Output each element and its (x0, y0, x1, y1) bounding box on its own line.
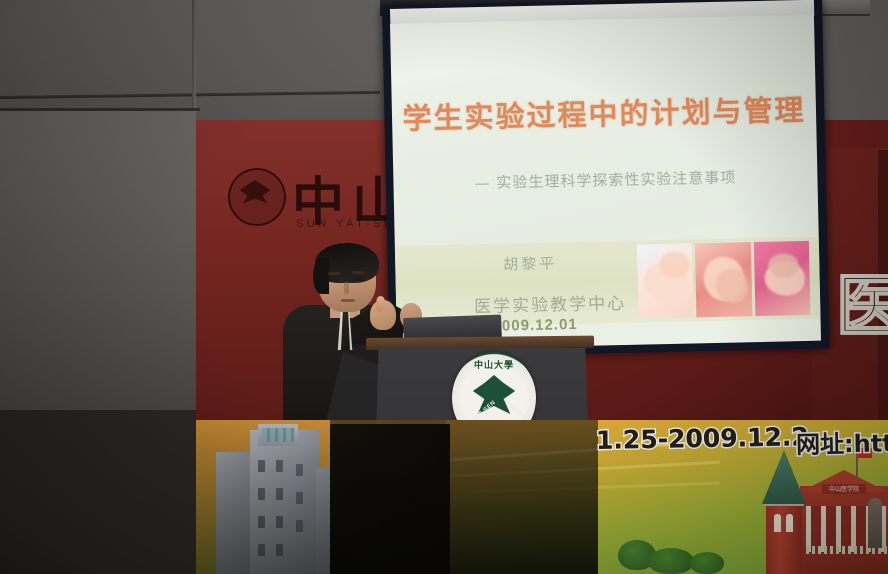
slide-subtitle: — 实验生理科学探索性实验注意事项 (393, 165, 817, 195)
speaker-eye-right (353, 277, 363, 281)
speaker-eyebrow-right (352, 271, 364, 275)
banner-building-plaque-text: 中山医学院 (823, 484, 865, 493)
banner-tree-3 (690, 552, 724, 574)
lecture-hall-photo: 中山大 SUN YAT-SEN UNIV 医 学生实验过程中的计划与管理 — 实… (0, 0, 888, 574)
banner-date-range: 1.25-2009.12.2 (596, 422, 809, 455)
speaker-nose (344, 282, 349, 294)
banner-url-label: 网址:http (796, 423, 888, 460)
slide-title: 学生实验过程中的计划与管理 (392, 87, 817, 138)
left-wall-panel (0, 110, 196, 410)
podium-top-edge (366, 336, 594, 350)
banner-tree-2 (648, 548, 694, 574)
banner-tower-window-2 (786, 514, 793, 532)
hands-photo-3 (754, 241, 811, 316)
slide-presenter-name: 胡黎平 (503, 252, 557, 274)
speaker-mouth (341, 299, 355, 302)
banner-statue (868, 498, 882, 548)
banner-tower-body (766, 500, 802, 574)
left-wall-seam (0, 108, 200, 111)
hands-photo-2 (695, 242, 752, 317)
speaker-eye-left (329, 278, 339, 282)
slide-organization: 医学实验教学中心 (474, 289, 627, 317)
backdrop-side-character: 医 (836, 276, 888, 341)
banner-tower-window-1 (774, 514, 781, 532)
presentation-slide: 学生实验过程中的计划与管理 — 实验生理科学探索性实验注意事项 胡黎平 医学实验… (390, 15, 821, 350)
slide-date: 2009.12.01 (492, 316, 577, 335)
slide-photo-strip (637, 241, 811, 319)
hands-photo-1 (637, 243, 694, 318)
speaker-hair-side (313, 258, 329, 294)
foreground-shadow (330, 420, 598, 574)
